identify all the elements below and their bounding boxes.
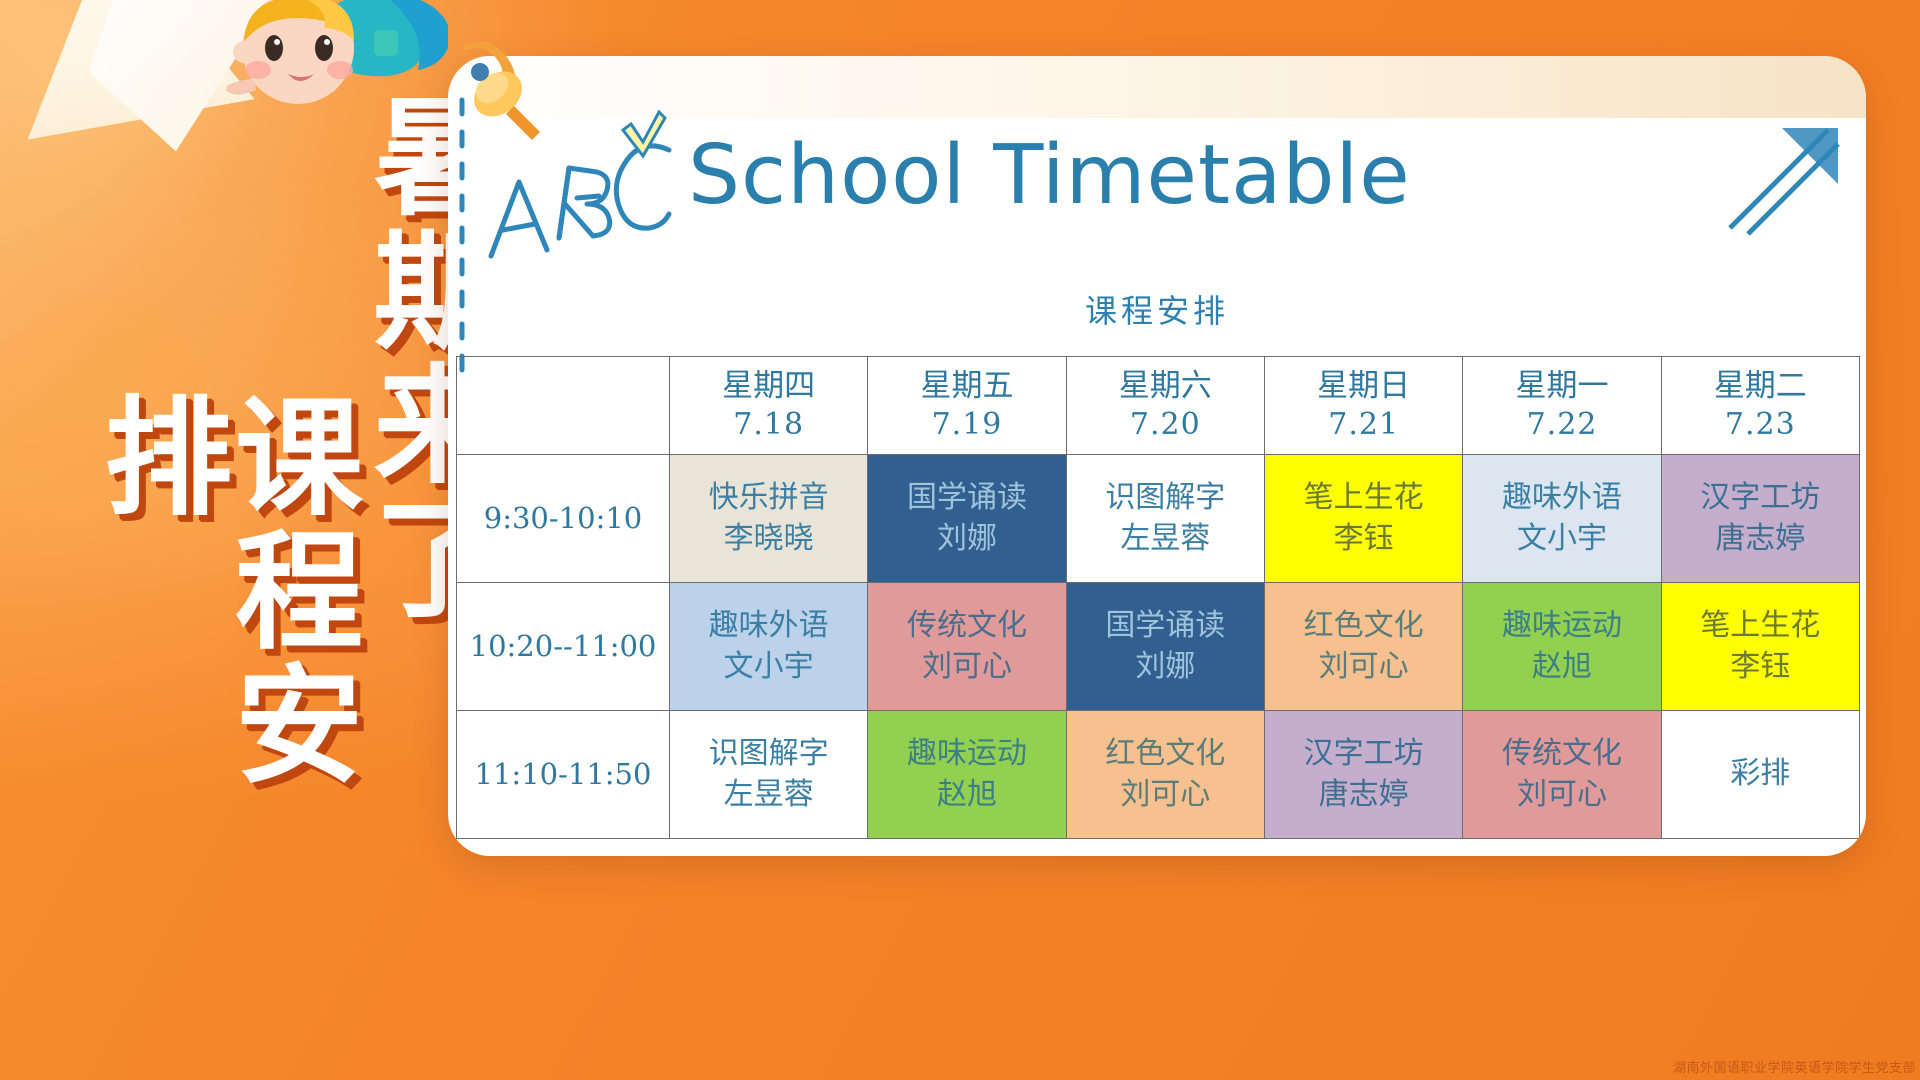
course-name: 笔上生花	[1664, 606, 1857, 647]
course-name: 趣味外语	[672, 606, 865, 647]
course-name: 趣味运动	[1465, 606, 1658, 647]
teacher-name: 文小宇	[1465, 519, 1658, 560]
header-day-name: 星期二	[1664, 367, 1857, 406]
teacher-name: 文小宇	[672, 647, 865, 688]
course-cell[interactable]: 传统文化 刘可心	[1463, 711, 1661, 839]
teacher-name: 赵旭	[870, 775, 1063, 816]
timetable-wrapper: 星期四 7.18 星期五 7.19 星期六 7.20 星期日 7.21	[456, 356, 1860, 839]
background-swoosh-2	[0, 300, 240, 940]
course-cell[interactable]: 汉字工坊 唐志婷	[1661, 455, 1859, 583]
course-name: 汉字工坊	[1267, 734, 1460, 775]
course-cell[interactable]: 快乐拼音 李晓晓	[670, 455, 868, 583]
timetable-header-cell-3: 星期日 7.21	[1264, 357, 1462, 455]
course-cell[interactable]: 传统文化 刘可心	[868, 583, 1066, 711]
course-cell[interactable]: 识图解字 左昱蓉	[1066, 455, 1264, 583]
course-cell[interactable]: 趣味外语 文小宇	[670, 583, 868, 711]
timetable-header-row: 星期四 7.18 星期五 7.19 星期六 7.20 星期日 7.21	[457, 357, 1860, 455]
teacher-name: 李钰	[1267, 519, 1460, 560]
course-name: 识图解字	[672, 734, 865, 775]
timetable-header-cell-2: 星期六 7.20	[1066, 357, 1264, 455]
header-day-date: 7.21	[1267, 406, 1460, 444]
header-day-date: 7.20	[1069, 406, 1262, 444]
header-day-name: 星期四	[672, 367, 865, 406]
timetable-header-cell-5: 星期二 7.23	[1661, 357, 1859, 455]
timetable: 星期四 7.18 星期五 7.19 星期六 7.20 星期日 7.21	[456, 356, 1860, 839]
teacher-name: 李钰	[1664, 647, 1857, 688]
teacher-name: 刘娜	[1069, 647, 1262, 688]
course-name: 快乐拼音	[672, 478, 865, 519]
course-name: 红色文化	[1069, 734, 1262, 775]
course-cell[interactable]: 趣味运动 赵旭	[868, 711, 1066, 839]
teacher-name: 赵旭	[1465, 647, 1658, 688]
header-day-date: 7.23	[1664, 406, 1857, 444]
timetable-header-cell-1: 星期五 7.19	[868, 357, 1066, 455]
course-cell[interactable]: 笔上生花 李钰	[1661, 583, 1859, 711]
course-cell[interactable]: 彩排	[1661, 711, 1859, 839]
teacher-name: 刘可心	[1267, 647, 1460, 688]
course-cell[interactable]: 国学诵读 刘娜	[1066, 583, 1264, 711]
timetable-header-cell-0: 星期四 7.18	[670, 357, 868, 455]
corner-stripes-decoration	[1720, 118, 1840, 238]
timetable-body: 9:30-10:10 快乐拼音 李晓晓 国学诵读 刘娜 识图解字 左昱蓉 笔上	[457, 455, 1860, 839]
table-row: 10:20--11:00 趣味外语 文小宇 传统文化 刘可心 国学诵读 刘娜	[457, 583, 1860, 711]
row-time-label: 9:30-10:10	[457, 455, 670, 583]
header-day-date: 7.18	[672, 406, 865, 444]
watermark: 湖南外国语职业学院英语学院学生党支部	[1667, 1057, 1916, 1076]
course-name: 趣味运动	[870, 734, 1063, 775]
course-name: 彩排	[1664, 754, 1857, 795]
table-row: 11:10-11:50 识图解字 左昱蓉 趣味运动 赵旭 红色文化 刘可心 汉	[457, 711, 1860, 839]
teacher-name: 唐志婷	[1267, 775, 1460, 816]
teacher-name: 左昱蓉	[1069, 519, 1262, 560]
course-cell[interactable]: 红色文化 刘可心	[1264, 583, 1462, 711]
row-time-label: 10:20--11:00	[457, 583, 670, 711]
page-subtitle: 课程安排	[448, 286, 1866, 332]
course-cell[interactable]: 趣味运动 赵旭	[1463, 583, 1661, 711]
timetable-header-cell-4: 星期一 7.22	[1463, 357, 1661, 455]
header-day-date: 7.19	[870, 406, 1063, 444]
teacher-name: 刘可心	[1465, 775, 1658, 816]
course-cell[interactable]: 识图解字 左昱蓉	[670, 711, 868, 839]
student-mascot-icon	[148, 0, 448, 136]
course-name: 红色文化	[1267, 606, 1460, 647]
course-cell[interactable]: 国学诵读 刘娜	[868, 455, 1066, 583]
teacher-name: 刘娜	[870, 519, 1063, 560]
course-cell[interactable]: 汉字工坊 唐志婷	[1264, 711, 1462, 839]
course-cell[interactable]: 红色文化 刘可心	[1066, 711, 1264, 839]
course-name: 汉字工坊	[1664, 478, 1857, 519]
header-day-name: 星期五	[870, 367, 1063, 406]
teacher-name: 唐志婷	[1664, 519, 1857, 560]
course-cell[interactable]: 趣味外语 文小宇	[1463, 455, 1661, 583]
header-day-name: 星期日	[1267, 367, 1460, 406]
course-name: 识图解字	[1069, 478, 1262, 519]
course-name: 趣味外语	[1465, 478, 1658, 519]
header-day-date: 7.22	[1465, 406, 1658, 444]
timetable-card: School Timetable 课程安排 星期四 7.18 星期五 7.19	[448, 56, 1866, 856]
teacher-name: 左昱蓉	[672, 775, 865, 816]
timetable-corner-cell	[457, 357, 670, 455]
row-time-label: 11:10-11:50	[457, 711, 670, 839]
teacher-name: 李晓晓	[672, 519, 865, 560]
watermark-text: 湖南外国语职业学院英语学院学生党支部	[1673, 1061, 1916, 1076]
course-name: 传统文化	[1465, 734, 1658, 775]
table-row: 9:30-10:10 快乐拼音 李晓晓 国学诵读 刘娜 识图解字 左昱蓉 笔上	[457, 455, 1860, 583]
course-name: 国学诵读	[870, 478, 1063, 519]
header-day-name: 星期六	[1069, 367, 1262, 406]
course-name: 传统文化	[870, 606, 1063, 647]
teacher-name: 刘可心	[1069, 775, 1262, 816]
course-name: 笔上生花	[1267, 478, 1460, 519]
push-pin-icon	[440, 36, 550, 146]
course-name: 国学诵读	[1069, 606, 1262, 647]
teacher-name: 刘可心	[870, 647, 1063, 688]
header-day-name: 星期一	[1465, 367, 1658, 406]
course-cell[interactable]: 笔上生花 李钰	[1264, 455, 1462, 583]
page-title: School Timetable	[688, 128, 1411, 223]
